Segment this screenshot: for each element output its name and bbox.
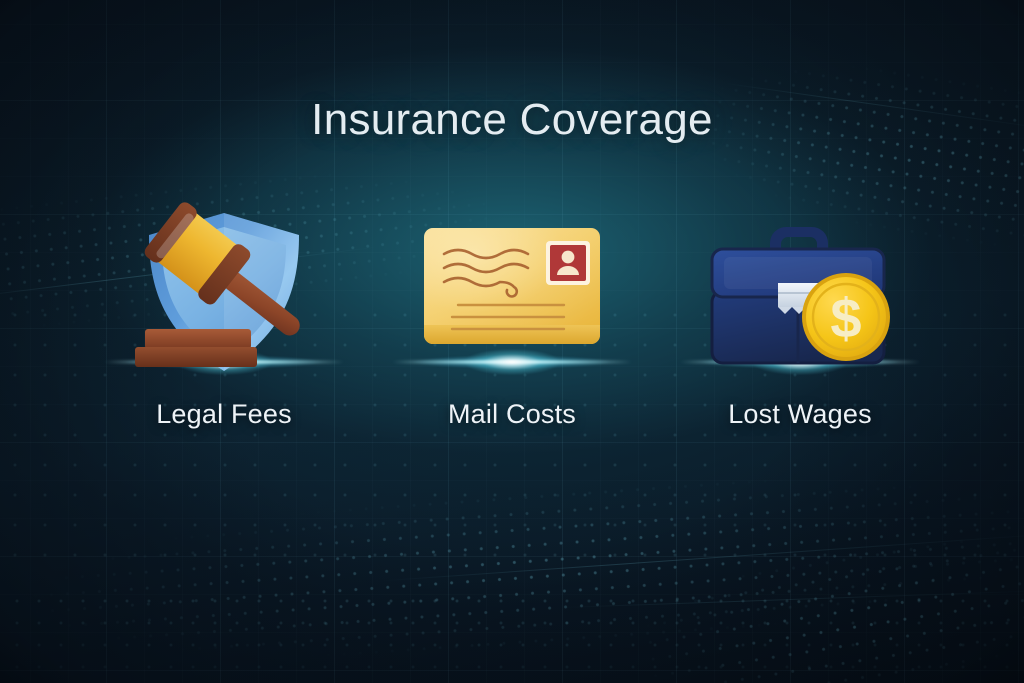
briefcase-handle [770, 227, 828, 251]
icon-container [412, 205, 612, 385]
dollar-sign-icon: $ [830, 287, 861, 350]
card-label: Lost Wages [728, 399, 872, 430]
coverage-card-mail-costs[interactable]: Mail Costs [412, 205, 612, 430]
gavel-block-upper [145, 329, 251, 349]
particle-field-bottom-scatter [0, 590, 1024, 683]
shield-gavel-icon [131, 205, 317, 385]
envelope-icon [418, 205, 606, 385]
slide-canvas: Insurance Coverage [0, 0, 1024, 683]
particle-field-lower-wave [0, 395, 1024, 683]
icon-container: $ [700, 205, 900, 385]
postage-stamp [546, 241, 590, 285]
briefcase-coin-icon: $ [704, 205, 896, 385]
coverage-card-row: Legal Fees [0, 205, 1024, 430]
card-label: Legal Fees [156, 399, 292, 430]
light-strand [560, 589, 1024, 608]
particle-field-bottom-right [510, 473, 1024, 683]
gavel-block-lower [135, 347, 257, 367]
dollar-coin: $ [802, 273, 890, 361]
page-title: Insurance Coverage [0, 95, 1024, 145]
coverage-card-legal-fees[interactable]: Legal Fees [124, 205, 324, 430]
icon-container [124, 205, 324, 385]
card-label: Mail Costs [448, 399, 576, 430]
light-strand [381, 532, 1024, 582]
coverage-card-lost-wages[interactable]: $ Lost Wages [700, 205, 900, 430]
